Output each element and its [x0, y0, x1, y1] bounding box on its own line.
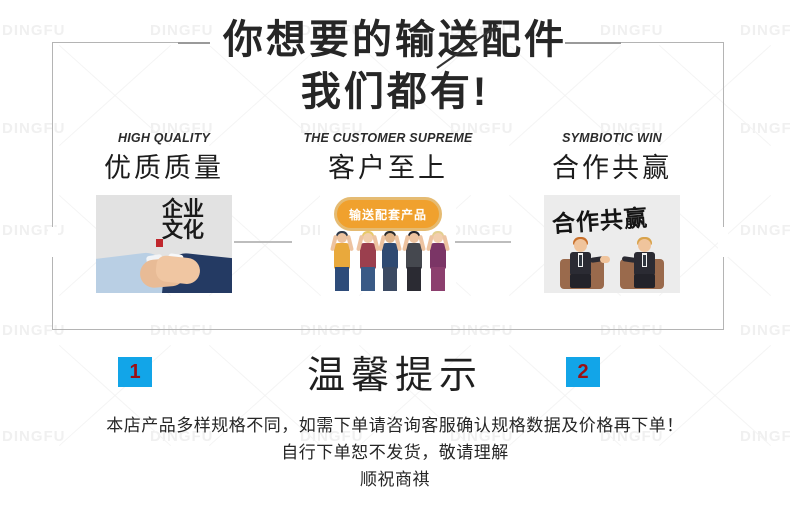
seal-stamp-icon — [156, 239, 163, 247]
feature-chinese-label: 合作共赢 — [552, 151, 672, 185]
hand-shape — [600, 256, 610, 263]
head-shape — [363, 233, 373, 243]
feature-english-label: SYMBIOTIC WIN — [562, 130, 662, 146]
header-title-block: 你想要的输送配件 我们都有! — [0, 14, 790, 118]
step-connector-1 — [234, 241, 292, 243]
legs-shape — [335, 267, 349, 291]
tie-shape — [643, 255, 646, 266]
head-shape — [433, 233, 443, 243]
torso-shape — [430, 243, 446, 269]
feature-column-3: SYMBIOTIC WIN 合作共赢 合作共赢 — [500, 130, 724, 330]
feature-english-label: THE CUSTOMER SUPREME — [303, 130, 472, 146]
feature-chinese-label: 优质质量 — [104, 151, 224, 185]
banner-pill-text: 输送配套产品 — [349, 206, 427, 223]
torso-shape — [382, 243, 398, 269]
legs-shape — [407, 267, 421, 291]
head-shape — [409, 233, 419, 243]
torso-shape — [360, 243, 376, 269]
person-figure — [404, 231, 424, 293]
image-caption-text: 合作共赢 — [551, 197, 673, 245]
feature-image-handshake: 企业文化 — [96, 195, 232, 293]
legs-shape — [431, 267, 445, 291]
torso-shape — [334, 243, 350, 269]
title-dash-left-icon — [178, 42, 210, 44]
notice-section: 温馨提示 本店产品多样规格不同，如需下单请咨询客服确认规格数据及价格再下单！ 自… — [0, 352, 790, 493]
legs-shape — [383, 267, 397, 291]
legs-shape — [570, 274, 591, 288]
watermark-text: DINGFU — [740, 322, 790, 339]
feature-image-business-handshake: 合作共赢 — [544, 195, 680, 293]
feature-column-2: THE CUSTOMER SUPREME 客户至上 输送配套产品 — [276, 130, 500, 330]
legs-shape — [361, 267, 375, 291]
person-figure — [428, 231, 448, 293]
notice-line-1: 本店产品多样规格不同，如需下单请咨询客服确认规格数据及价格再下单！ — [0, 412, 790, 439]
image-caption-text: 企业文化 — [154, 199, 212, 259]
businessman-figure — [568, 239, 594, 285]
title-dash-right-icon — [565, 42, 621, 44]
head-shape — [337, 233, 347, 243]
head-shape — [385, 233, 395, 243]
feature-columns: HIGH QUALITY 优质质量 企业文化 1 THE CUSTOMER SU… — [52, 130, 724, 330]
notice-line-3: 顺祝商祺 — [0, 466, 790, 493]
torso-shape — [406, 243, 422, 269]
person-figure — [380, 231, 400, 293]
title-line-2: 我们都有! — [0, 66, 790, 118]
watermark-text: DINGFU — [740, 222, 790, 239]
legs-shape — [634, 274, 655, 288]
step-connector-2 — [455, 241, 511, 243]
businessman-figure — [632, 239, 658, 285]
title-line-1: 你想要的输送配件 — [0, 14, 790, 66]
head-shape — [574, 239, 587, 252]
notice-title: 温馨提示 — [0, 352, 790, 400]
watermark-text: DINGFU — [740, 120, 790, 137]
hand-right-shape — [155, 255, 201, 285]
feature-image-crowd: 输送配套产品 — [320, 195, 456, 293]
feature-column-1: HIGH QUALITY 优质质量 企业文化 1 — [52, 130, 276, 330]
tie-shape — [579, 255, 582, 266]
promo-banner-page: DINGFU DINGFU DINGFU DINGFU DINGFU DINGF… — [0, 0, 790, 525]
feature-english-label: HIGH QUALITY — [118, 130, 210, 146]
person-figure — [332, 231, 352, 293]
feature-chinese-label: 客户至上 — [328, 151, 448, 185]
notice-line-2: 自行下单恕不发货，敬请理解 — [0, 439, 790, 466]
head-shape — [638, 239, 651, 252]
person-figure — [358, 231, 378, 293]
banner-pill: 输送配套产品 — [334, 197, 442, 231]
